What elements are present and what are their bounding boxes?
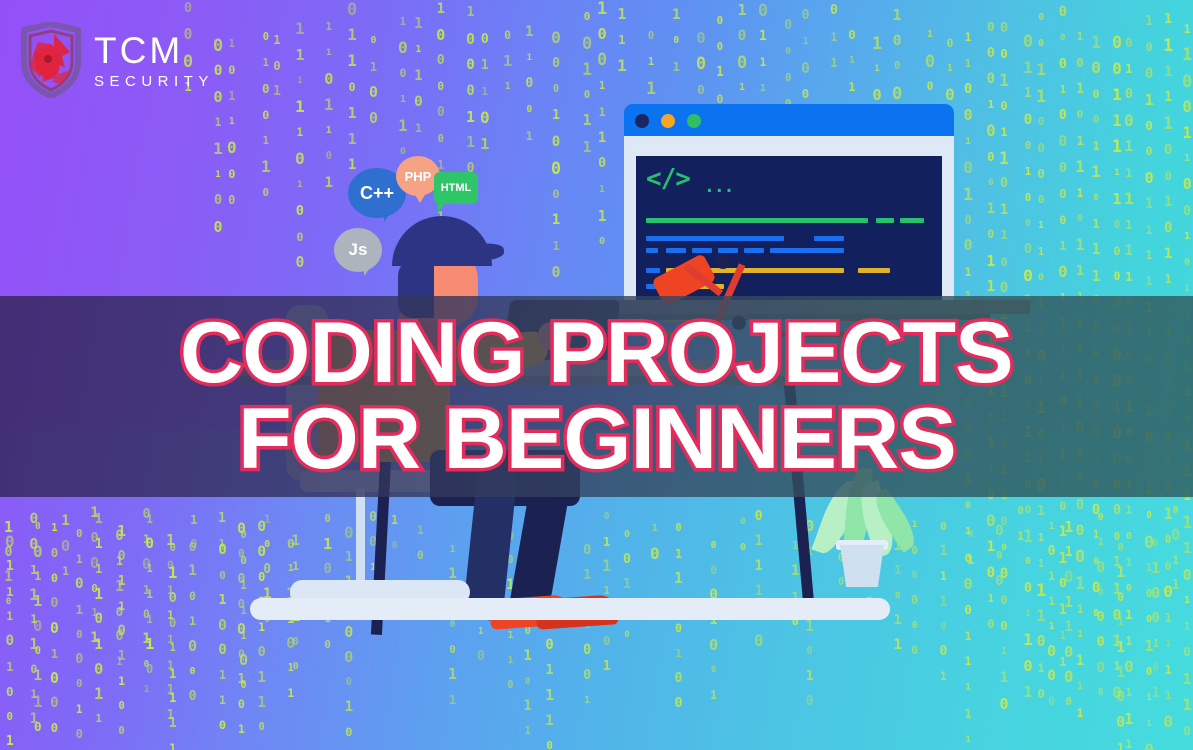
bubble-html: HTML (434, 172, 478, 204)
code-line (876, 218, 894, 223)
tcm-security-logo[interactable]: TCM SECURITY (18, 22, 214, 98)
bubble-js-label: Js (349, 240, 368, 260)
code-line (900, 218, 924, 223)
code-line (646, 236, 784, 241)
code-line (814, 236, 844, 241)
window-dot-navy-icon (635, 114, 649, 128)
code-line (646, 268, 660, 273)
code-ellipsis: ... (704, 176, 734, 197)
floor-strip (250, 598, 890, 620)
shield-wolf-icon (18, 22, 84, 98)
code-line (744, 248, 764, 253)
person-cap-brim (451, 242, 504, 263)
code-line (692, 248, 712, 253)
window-dot-amber-icon (661, 114, 675, 128)
shield-wolf-svg (18, 22, 84, 98)
logo-brand-name: TCM (94, 32, 214, 69)
bubble-php-label: PHP (405, 169, 432, 184)
logo-tagline: SECURITY (94, 74, 214, 89)
lamp-joint-upper (716, 255, 730, 269)
window-dot-green-icon (687, 114, 701, 128)
title-line-2: FOR BEGINNERS (238, 397, 956, 482)
banner-title: CODING PROJECTS FOR BEGINNERS (0, 296, 1193, 497)
laptop-titlebar (624, 104, 954, 138)
bubble-cpp-label: C++ (360, 183, 394, 204)
bubble-js: Js (334, 228, 382, 272)
bubble-html-label: HTML (441, 182, 472, 194)
code-tag-glyph: </> (646, 164, 690, 194)
code-line (718, 248, 738, 253)
code-line (770, 248, 844, 253)
title-line-1: CODING PROJECTS (180, 311, 1013, 396)
plant-pot (840, 545, 884, 587)
code-line (666, 248, 686, 253)
code-line (646, 248, 658, 253)
code-tag-icon: </> (646, 164, 690, 194)
banner-image: 0001000111001011000010011010111111010001… (0, 0, 1193, 750)
code-line (858, 268, 890, 273)
code-line (646, 218, 868, 223)
